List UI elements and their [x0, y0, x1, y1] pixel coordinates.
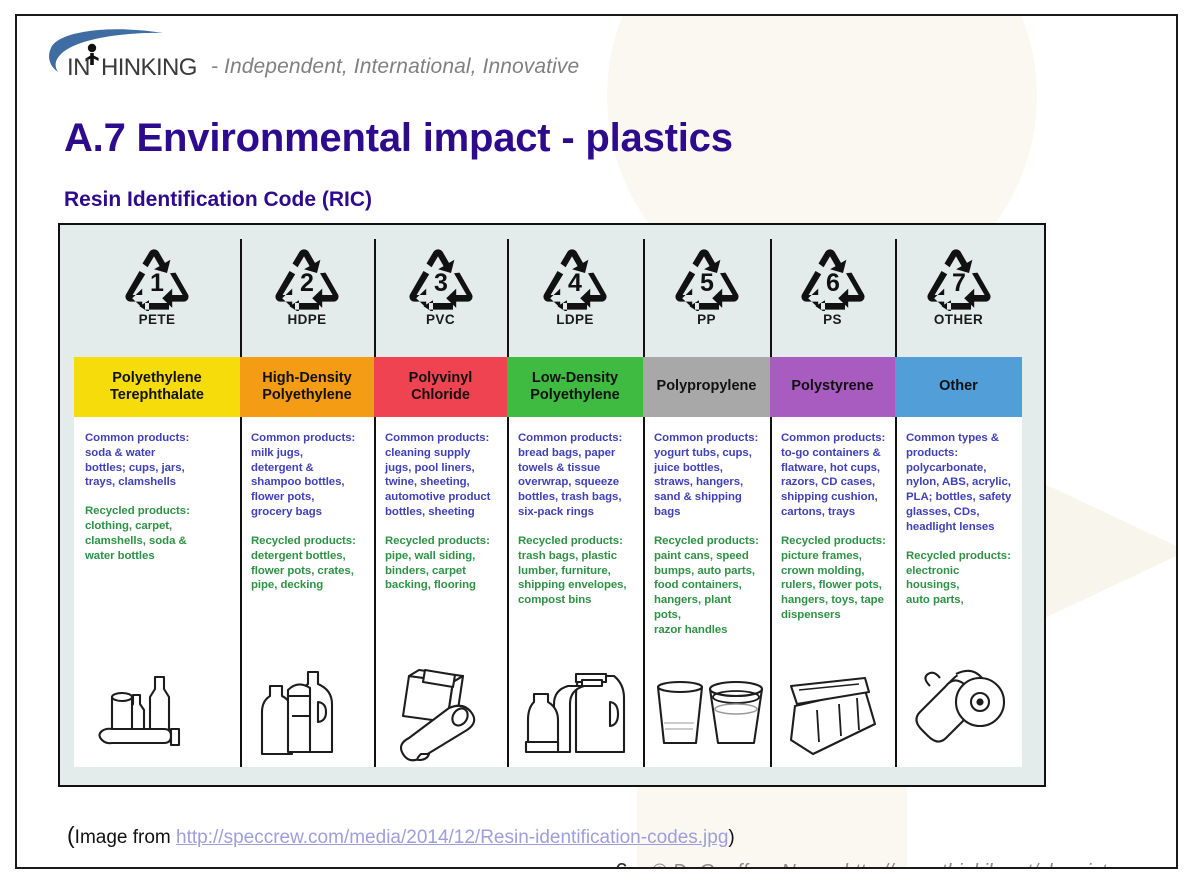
- ric-description-cell: Common types & products: polycarbonate, …: [895, 417, 1022, 767]
- slide-canvas: IN HINKING - Independent, International,…: [15, 14, 1178, 869]
- text-spacer: [654, 520, 761, 534]
- svg-text:6: 6: [826, 269, 840, 297]
- recycling-triangle-1-icon: 1: [118, 245, 196, 311]
- inthinking-swoosh-logo-icon: IN HINKING: [45, 26, 220, 88]
- inthinking-logo[interactable]: IN HINKING: [45, 38, 205, 78]
- svg-text:2: 2: [300, 269, 314, 297]
- ric-symbol-cell: 1 PETE: [74, 239, 240, 357]
- ric-table: 1 PETEPolyethylene TerephthalateCommon p…: [58, 223, 1046, 787]
- text-spacer: [518, 520, 634, 534]
- ric-resin-name: Polyvinyl Chloride: [374, 357, 507, 417]
- cup-and-tub-icon: [643, 667, 770, 763]
- caption-prefix: Image from: [75, 827, 176, 848]
- svg-text:IN: IN: [67, 54, 90, 81]
- ric-resin-name: Other: [895, 357, 1022, 417]
- ric-abbreviation: HDPE: [287, 312, 326, 327]
- caption-open-paren: (: [67, 822, 75, 848]
- recycled-products-text: Recycled products: electronic housings, …: [906, 549, 1013, 608]
- page-number: 6: [615, 858, 628, 869]
- recycling-triangle-6-icon: 6: [794, 245, 872, 311]
- brand-tagline: - Independent, International, Innovative: [211, 55, 579, 79]
- bottles-jar-cluster-icon: [74, 667, 240, 763]
- svg-text:HINKING: HINKING: [101, 54, 197, 81]
- ric-symbol-cell: 4 LDPE: [507, 239, 643, 357]
- ric-column-ps: 6 PSPolystyreneCommon products: to-go co…: [770, 239, 895, 767]
- text-spacer: [906, 535, 1013, 549]
- ric-resin-name: Low-Density Polyethylene: [507, 357, 643, 417]
- svg-text:1: 1: [150, 269, 164, 297]
- milk-jug-bottles-icon: [240, 667, 374, 763]
- common-products-text: Common products: soda & water bottles; c…: [85, 431, 231, 490]
- slide-header: IN HINKING - Independent, International,…: [17, 16, 1176, 86]
- ric-abbreviation: OTHER: [934, 312, 983, 327]
- ric-symbol-cell: 7 OTHER: [895, 239, 1022, 357]
- recycled-products-text: Recycled products: trash bags, plastic l…: [518, 534, 634, 608]
- box-and-roll-sheeting-icon: [374, 667, 507, 763]
- ric-table-inner: 1 PETEPolyethylene TerephthalateCommon p…: [74, 239, 1022, 767]
- recycling-triangle-5-icon: 5: [668, 245, 746, 311]
- ric-symbol-cell: 3 PVC: [374, 239, 507, 357]
- recycled-products-text: Recycled products: paint cans, speed bum…: [654, 534, 761, 638]
- ric-symbol-cell: 5 PP: [643, 239, 770, 357]
- svg-text:4: 4: [568, 269, 582, 297]
- ric-symbol-cell: 6 PS: [770, 239, 895, 357]
- ric-description-cell: Common products: soda & water bottles; c…: [74, 417, 240, 767]
- ric-column-ldpe: 4 LDPELow-Density PolyethyleneCommon pro…: [507, 239, 643, 767]
- recycling-triangle-4-icon: 4: [536, 245, 614, 311]
- recycled-products-text: Recycled products: clothing, carpet, cla…: [85, 504, 231, 563]
- common-products-text: Common products: bread bags, paper towel…: [518, 431, 634, 520]
- ric-column-pvc: 3 PVCPolyvinyl ChlorideCommon products: …: [374, 239, 507, 767]
- ric-resin-name: Polypropylene: [643, 357, 770, 417]
- ric-resin-name: Polyethylene Terephthalate: [74, 357, 240, 417]
- ric-description-cell: Common products: bread bags, paper towel…: [507, 417, 643, 767]
- recycling-triangle-2-icon: 2: [268, 245, 346, 311]
- source-link[interactable]: http://speccrew.com/media/2014/12/Resin-…: [176, 827, 728, 848]
- common-products-text: Common products: cleaning supply jugs, p…: [385, 431, 498, 520]
- svg-text:7: 7: [952, 269, 966, 297]
- clamshell-container-icon: [770, 667, 895, 763]
- ric-abbreviation: PS: [823, 312, 842, 327]
- common-products-text: Common products: milk jugs, detergent & …: [251, 431, 365, 520]
- ric-symbol-cell: 2 HDPE: [240, 239, 374, 357]
- ric-description-cell: Common products: milk jugs, detergent & …: [240, 417, 374, 767]
- text-spacer: [781, 520, 886, 534]
- image-source-caption: (Image from http://speccrew.com/media/20…: [67, 822, 735, 849]
- ric-column-other: 7 OTHEROtherCommon types & products: pol…: [895, 239, 1022, 767]
- recycled-products-text: Recycled products: detergent bottles, fl…: [251, 534, 365, 593]
- ric-resin-name: Polystyrene: [770, 357, 895, 417]
- recycling-triangle-3-icon: 3: [402, 245, 480, 311]
- ric-resin-name: High-Density Polyethylene: [240, 357, 374, 417]
- copyright-credit: © Dr Geoffrey Neuss http://www.thinkib.n…: [652, 861, 1124, 869]
- ric-description-cell: Common products: cleaning supply jugs, p…: [374, 417, 507, 767]
- svg-text:3: 3: [434, 269, 448, 297]
- caption-close-paren: ): [728, 827, 734, 848]
- ric-abbreviation: PVC: [426, 312, 455, 327]
- common-products-text: Common products: yogurt tubs, cups, juic…: [654, 431, 761, 520]
- text-spacer: [385, 520, 498, 534]
- recycled-products-text: Recycled products: picture frames, crown…: [781, 534, 886, 623]
- page-title: A.7 Environmental impact - plastics: [64, 116, 733, 161]
- ric-description-cell: Common products: yogurt tubs, cups, juic…: [643, 417, 770, 767]
- page-subtitle: Resin Identification Code (RIC): [64, 188, 372, 212]
- ric-column-pete: 1 PETEPolyethylene TerephthalateCommon p…: [74, 239, 240, 767]
- text-spacer: [251, 520, 365, 534]
- ric-abbreviation: PETE: [139, 312, 176, 327]
- common-products-text: Common types & products: polycarbonate, …: [906, 431, 1013, 535]
- recycling-triangle-7-icon: 7: [920, 245, 998, 311]
- common-products-text: Common products: to-go containers & flat…: [781, 431, 886, 520]
- svg-text:5: 5: [700, 269, 714, 297]
- ric-column-pp: 5 PPPolypropyleneCommon products: yogurt…: [643, 239, 770, 767]
- text-spacer: [85, 490, 231, 504]
- ric-abbreviation: LDPE: [556, 312, 594, 327]
- ric-description-cell: Common products: to-go containers & flat…: [770, 417, 895, 767]
- recycled-products-text: Recycled products: pipe, wall siding, bi…: [385, 534, 498, 593]
- spray-can-cd-icon: [895, 667, 1022, 763]
- ric-column-hdpe: 2 HDPEHigh-Density PolyethyleneCommon pr…: [240, 239, 374, 767]
- squeeze-bottle-jug-icon: [507, 667, 643, 763]
- ric-abbreviation: PP: [697, 312, 716, 327]
